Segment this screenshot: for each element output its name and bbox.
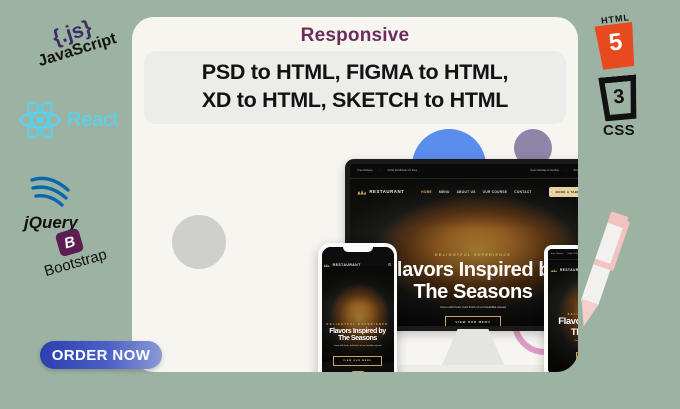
phone-navbar: RESTAURANT ☰: [322, 256, 394, 273]
react-atom-icon: [18, 100, 62, 140]
react-logo: React: [18, 100, 118, 140]
hero-copy-tablet: DELIGHTFUL EXPERIENCE Flavors Inspired b…: [548, 313, 578, 361]
hero-copy-mobile: DELIGHTFUL EXPERIENCE Flavors Inspired b…: [322, 323, 394, 366]
tablet-topbar: Free Delivery Order 30 Minutes Or Free O…: [548, 249, 578, 260]
content-card: Responsive PSD to HTML, FIGMA to HTML, X…: [132, 17, 578, 372]
html5-number: 5: [607, 30, 623, 55]
responsive-eyebrow: Responsive: [132, 25, 578, 47]
jquery-swoosh-icon: [28, 176, 74, 210]
view-menu-button[interactable]: VIEW OUR MENU: [445, 316, 500, 326]
nav-item-course[interactable]: OUR COURSE: [483, 190, 508, 194]
restaurant-logo-icon-mobile: [324, 263, 330, 267]
order-now-label: ORDER NOW: [52, 347, 151, 364]
headline-block: Responsive PSD to HTML, FIGMA to HTML, X…: [132, 17, 578, 124]
tablet-brand[interactable]: RESTAURANT: [551, 268, 578, 272]
react-label: React: [67, 109, 118, 132]
restaurant-site-tablet: Free Delivery Order 30 Minutes Or Free O…: [548, 249, 578, 372]
phone-app-icon: [351, 371, 364, 373]
tablet-view-menu-button[interactable]: VIEW OUR MENU: [576, 352, 578, 361]
topbar-text-4[interactable]: Book A Table: [574, 169, 578, 172]
jquery-logo: jQuery: [24, 176, 78, 233]
nav-item-about[interactable]: ABOUT US: [457, 190, 476, 194]
site-navbar: RESTAURANT HOME MENU ABOUT US OUR COURSE…: [350, 179, 578, 205]
brand-name: RESTAURANT: [369, 189, 404, 194]
css3-number: 3: [612, 86, 625, 107]
phone-hero-eyebrow: DELIGHTFUL EXPERIENCE: [326, 323, 389, 326]
site-topbar: Free Delivery | Order 30 Minutes Or Free…: [350, 164, 578, 179]
tablet-screen: Free Delivery Order 30 Minutes Or Free O…: [548, 249, 578, 372]
poster-canvas: Responsive PSD to HTML, FIGMA to HTML, X…: [0, 0, 680, 409]
site-brand[interactable]: RESTAURANT: [357, 189, 404, 195]
nav-item-contact[interactable]: CONTACT: [514, 190, 531, 194]
headline-box: PSD to HTML, FIGMA to HTML, XD to HTML, …: [144, 51, 566, 124]
html5-logo: HTML 5: [594, 14, 637, 68]
monitor-stand-base: [398, 365, 548, 372]
tablet-topbar-text-2: Order 30 Minutes Or Free: [567, 253, 578, 255]
css3-shield-icon: 3: [598, 74, 640, 121]
css3-label: CSS: [596, 122, 642, 139]
hamburger-menu-icon[interactable]: ☰: [388, 262, 392, 267]
phone-view-menu-button[interactable]: VIEW OUR MENU: [333, 356, 382, 366]
phone-screen: RESTAURANT ☰ DELIGHTFUL EXPERIENCE Flavo…: [322, 247, 394, 373]
tablet-hero-title-2: The Seasons: [554, 328, 578, 338]
css3-logo: 3 CSS: [596, 76, 642, 139]
phone-hero-title-1: Flavors Inspired by: [326, 328, 389, 336]
monitor-stand-neck: [441, 329, 505, 367]
restaurant-logo-icon-tablet: [551, 268, 557, 272]
pen-illustration: [572, 195, 639, 326]
tablet-topbar-text-1: Free Delivery: [551, 253, 563, 255]
phone-hero-title-2: The Seasons: [326, 335, 389, 343]
tablet-device: Free Delivery Order 30 Minutes Or Free O…: [544, 245, 578, 372]
headline-line-2: XD to HTML, SKETCH to HTML: [150, 86, 560, 114]
phone-brand-name: RESTAURANT: [333, 263, 361, 267]
restaurant-logo-icon: [357, 189, 366, 195]
phone-body: RESTAURANT ☰ DELIGHTFUL EXPERIENCE Flavo…: [318, 243, 397, 372]
phone-hero-sub: Come with fresh, bold finish of our brea…: [326, 345, 389, 348]
bootstrap-b-letter: B: [62, 233, 77, 252]
tablet-body: Free Delivery Order 30 Minutes Or Free O…: [544, 245, 578, 372]
phone-notch: [343, 247, 373, 252]
topbar-text-2: Order 30 Minutes Or Free: [388, 169, 418, 172]
restaurant-site-mobile: RESTAURANT ☰ DELIGHTFUL EXPERIENCE Flavo…: [322, 247, 394, 373]
nav-item-home[interactable]: HOME: [421, 190, 432, 194]
grey-circle-decor: [172, 215, 226, 269]
smartphone-device: RESTAURANT ☰ DELIGHTFUL EXPERIENCE Flavo…: [318, 243, 397, 372]
javascript-logo: {.js} JavaScript: [30, 11, 118, 71]
phone-brand[interactable]: RESTAURANT: [324, 263, 361, 267]
headline-line-1: PSD to HTML, FIGMA to HTML,: [150, 58, 560, 86]
book-a-table-button[interactable]: BOOK A TABLE: [549, 187, 578, 197]
html5-shield-icon: 5: [594, 22, 637, 70]
nav-item-menu[interactable]: MENU: [439, 190, 450, 194]
tablet-hero-sub: Come with fresh, bold finish of our brea…: [554, 340, 578, 343]
topbar-text-1: Free Delivery: [357, 169, 372, 172]
topbar-text-3: Open Monday to Sunday: [530, 169, 559, 172]
tablet-navbar: RESTAURANT BOOK A TABLE: [548, 260, 578, 280]
tablet-brand-name: RESTAURANT: [560, 268, 578, 272]
order-now-button[interactable]: ORDER NOW: [40, 341, 162, 369]
site-nav-links: HOME MENU ABOUT US OUR COURSE CONTACT: [421, 190, 531, 194]
